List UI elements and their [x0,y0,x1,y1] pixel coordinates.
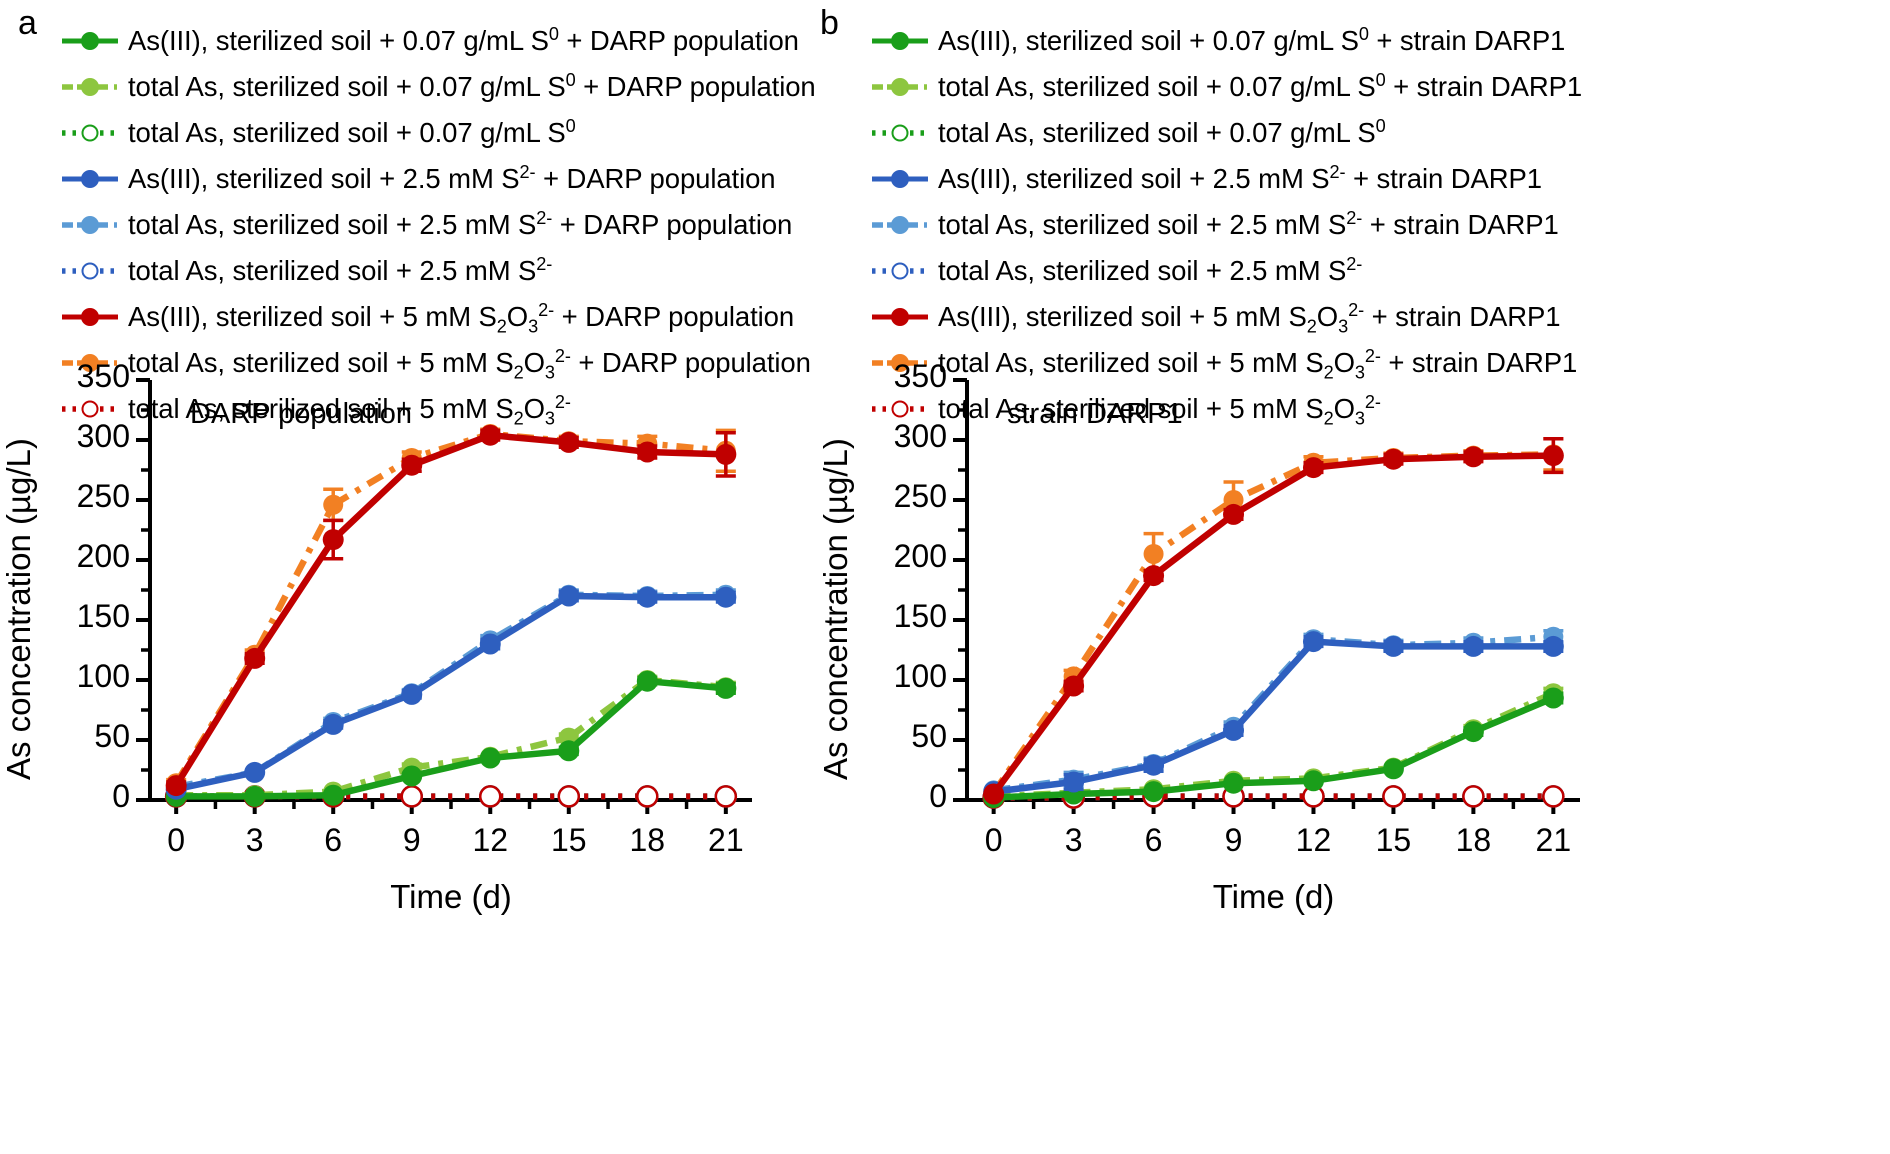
data-point-marker [323,529,344,550]
data-point-marker [637,442,658,463]
legend-item-label: total As, sterilized soil + 2.5 mM S2- +… [938,209,1559,241]
plot-panel-a: 050100150200250300350036912151821DARP po… [0,370,812,930]
legend-item[interactable]: total As, sterilized soil + 0.07 g/mL S0… [60,64,816,110]
legend-item[interactable]: As(III), sterilized soil + 0.07 g/mL S0 … [60,18,816,64]
legend-marker-icon [60,302,120,332]
data-series-line [176,434,726,783]
data-point-marker [1543,445,1564,466]
legend-item-label: As(III), sterilized soil + 5 mM S2O32- +… [938,301,1560,333]
data-point-marker [1463,636,1484,657]
legend-marker-icon [870,118,930,148]
panel-a: a As(III), sterilized soil + 0.07 g/mL S… [0,0,812,1154]
data-point-marker [1383,758,1404,779]
data-point-marker [637,587,658,608]
chart-canvas [812,370,1890,930]
legend-item-label: total As, sterilized soil + 2.5 mM S2- [128,255,552,287]
legend-item-label: total As, sterilized soil + 0.07 g/mL S0 [938,117,1386,149]
legend-item[interactable]: As(III), sterilized soil + 5 mM S2O32- +… [60,294,816,340]
data-point-marker [480,748,501,769]
data-point-marker [1463,446,1484,467]
panel-b-letter: b [820,6,839,40]
legend-marker-icon [60,26,120,56]
data-point-marker [1223,504,1244,525]
figure-root: a As(III), sterilized soil + 0.07 g/mL S… [0,0,1890,1154]
legend-item[interactable]: total As, sterilized soil + 0.07 g/mL S0… [870,64,1582,110]
data-point-marker [401,766,422,787]
data-point-marker [244,648,265,669]
data-point-marker [1303,631,1324,652]
legend-item-label: total As, sterilized soil + 2.5 mM S2- [938,255,1362,287]
panel-b: b As(III), sterilized soil + 0.07 g/mL S… [812,0,1890,1154]
data-point-marker [1383,786,1403,806]
legend-item-label: total As, sterilized soil + 2.5 mM S2- +… [128,209,792,241]
data-point-marker [715,587,736,608]
data-series-line [176,435,726,785]
data-point-marker [1383,449,1404,470]
data-point-marker [480,634,501,655]
legend-item-label: As(III), sterilized soil + 0.07 g/mL S0 … [938,25,1565,57]
legend-item[interactable]: total As, sterilized soil + 2.5 mM S2- [60,248,816,294]
data-point-marker [715,678,736,699]
data-point-marker [401,684,422,705]
legend-marker-icon [60,118,120,148]
y-axis-label: As concentration (µg/L) [817,438,855,780]
legend-item[interactable]: total As, sterilized soil + 0.07 g/mL S0 [60,110,816,156]
data-point-marker [402,786,422,806]
legend-item[interactable]: total As, sterilized soil + 2.5 mM S2- +… [870,202,1582,248]
legend-item[interactable]: As(III), sterilized soil + 2.5 mM S2- + … [60,156,816,202]
legend-marker-icon [870,26,930,56]
data-point-marker [1543,786,1563,806]
data-point-marker [1063,772,1084,793]
data-series-line [994,454,1554,792]
data-point-marker [480,425,501,446]
legend-item-label: total As, sterilized soil + 0.07 g/mL S0… [128,71,816,103]
data-point-marker [323,495,343,515]
legend-item-label: As(III), sterilized soil + 2.5 mM S2- + … [938,163,1542,195]
data-series-line [994,642,1554,792]
panel-a-letter: a [18,6,37,40]
y-axis-label: As concentration (µg/L) [0,438,38,780]
data-point-marker [1143,565,1164,586]
data-point-marker [480,786,500,806]
legend-marker-icon [870,256,930,286]
legend-item[interactable]: total As, sterilized soil + 0.07 g/mL S0 [870,110,1582,156]
data-point-marker [1463,721,1484,742]
data-point-marker [637,786,657,806]
legend-marker-icon [870,164,930,194]
legend-item-label: As(III), sterilized soil + 0.07 g/mL S0 … [128,25,799,57]
legend-marker-icon [60,72,120,102]
data-point-marker [1383,636,1404,657]
data-point-marker [559,786,579,806]
legend-item-label: As(III), sterilized soil + 2.5 mM S2- + … [128,163,775,195]
x-axis-label: Time (d) [150,878,752,916]
chart-canvas [0,370,812,930]
data-point-marker [1143,781,1164,802]
data-point-marker [1543,688,1564,709]
data-point-marker [244,762,265,783]
data-point-marker [1303,770,1324,791]
x-axis-label: Time (d) [967,878,1580,916]
data-point-marker [558,586,579,607]
data-point-marker [558,432,579,453]
legend-item[interactable]: As(III), sterilized soil + 0.07 g/mL S0 … [870,18,1582,64]
data-point-marker [1223,773,1244,794]
legend-item[interactable]: total As, sterilized soil + 2.5 mM S2- +… [60,202,816,248]
data-point-marker [637,671,658,692]
data-point-marker [401,455,422,476]
legend-item[interactable]: total As, sterilized soil + 2.5 mM S2- [870,248,1582,294]
data-point-marker [1463,786,1483,806]
plot-title: DARP population [190,398,412,431]
data-point-marker [558,740,579,761]
plot-title: strain DARP1 [1007,398,1183,431]
data-point-marker [1063,676,1084,697]
plot-panel-b: 050100150200250300350036912151821strain … [812,370,1890,930]
legend-marker-icon [870,210,930,240]
data-point-marker [1143,755,1164,776]
legend-item[interactable]: As(III), sterilized soil + 5 mM S2O32- +… [870,294,1582,340]
data-point-marker [715,444,736,465]
data-point-marker [1144,544,1164,564]
data-point-marker [716,786,736,806]
data-series-line [176,596,726,789]
legend-marker-icon [870,302,930,332]
legend-item-label: total As, sterilized soil + 0.07 g/mL S0… [938,71,1582,103]
legend-marker-icon [60,164,120,194]
data-point-marker [166,775,187,796]
legend-item-label: total As, sterilized soil + 0.07 g/mL S0 [128,117,576,149]
data-series-line [994,456,1554,794]
data-point-marker [323,785,344,806]
legend-marker-icon [870,72,930,102]
data-point-marker [323,714,344,735]
data-point-marker [983,784,1004,805]
legend-marker-icon [60,256,120,286]
data-point-marker [244,786,265,807]
legend-item[interactable]: As(III), sterilized soil + 2.5 mM S2- + … [870,156,1582,202]
legend-marker-icon [60,210,120,240]
data-point-marker [1543,636,1564,657]
data-point-marker [1223,720,1244,741]
legend-item-label: As(III), sterilized soil + 5 mM S2O32- +… [128,301,794,333]
data-point-marker [1303,457,1324,478]
data-series-line [994,637,1554,791]
